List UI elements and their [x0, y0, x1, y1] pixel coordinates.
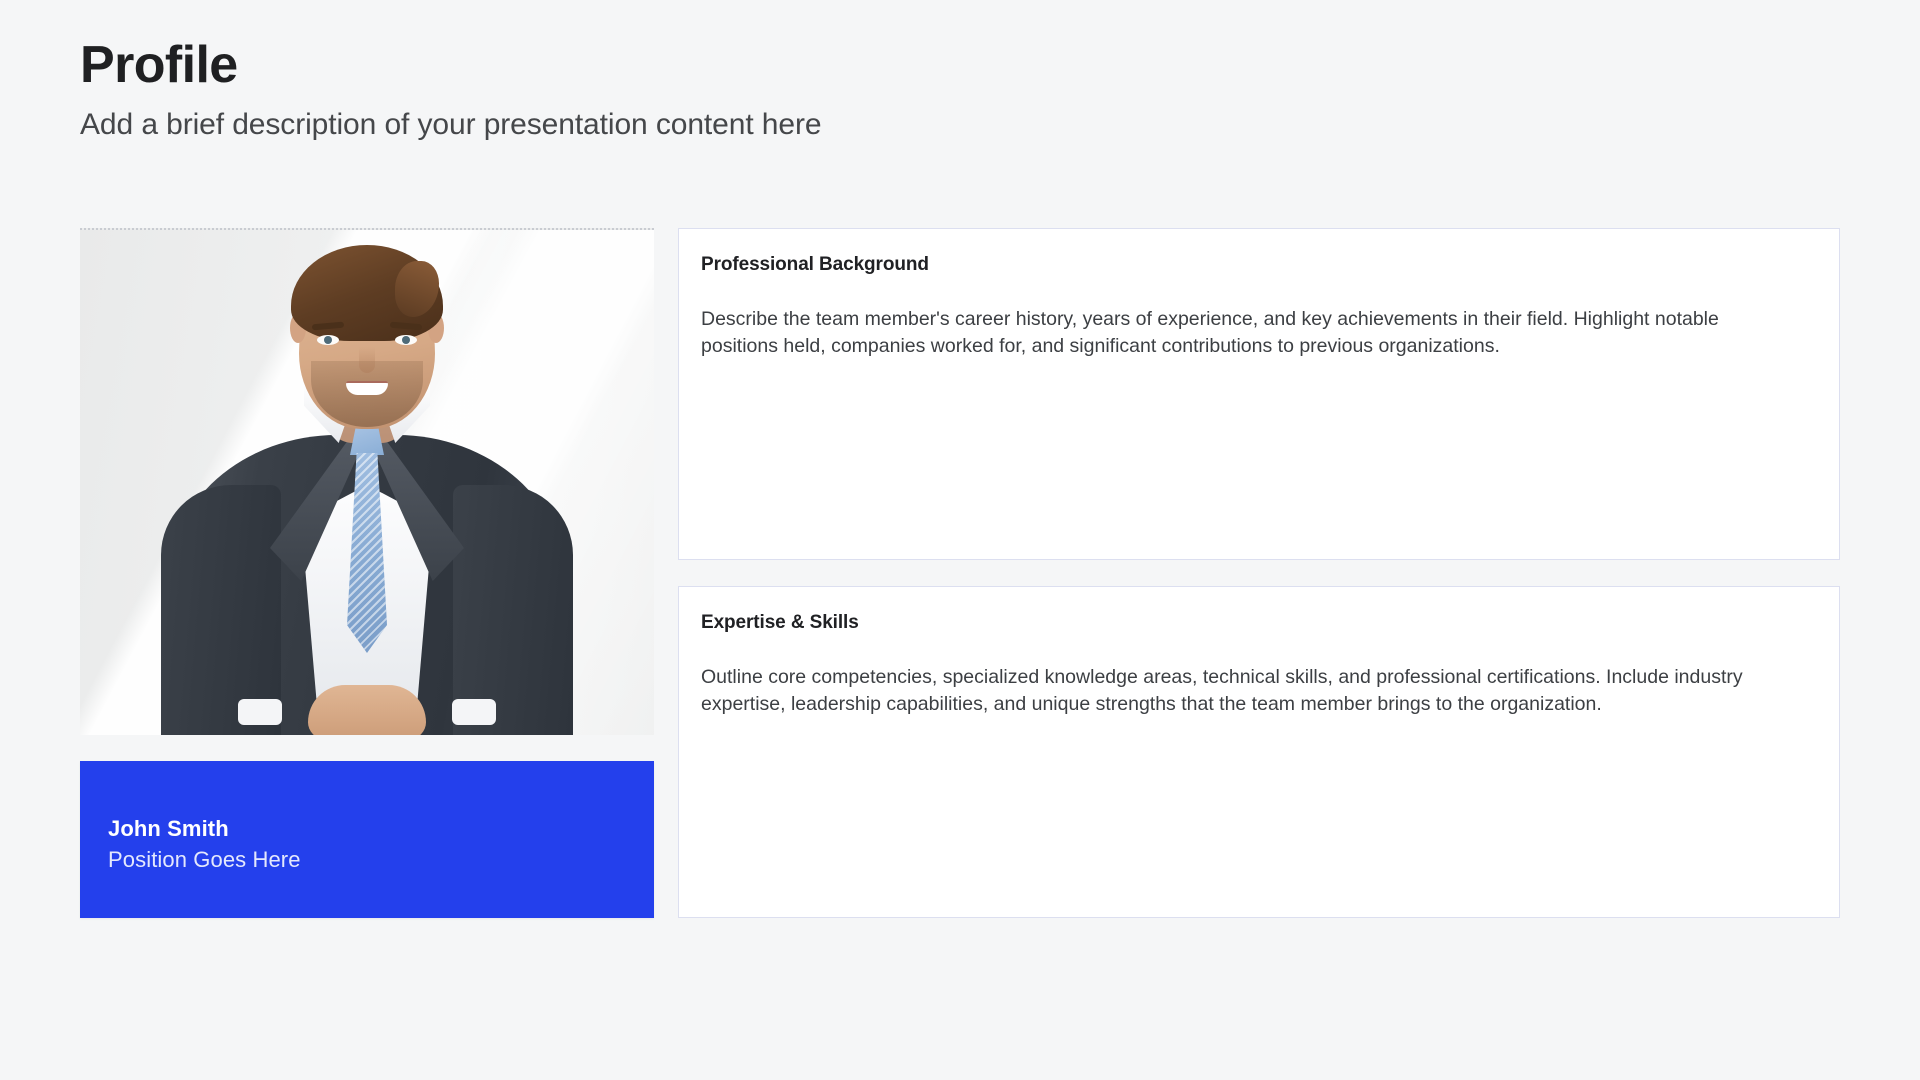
mouth-smile [346, 381, 388, 395]
profile-column: John Smith Position Goes Here [80, 228, 654, 918]
page-title: Profile [80, 36, 1840, 94]
page-subtitle: Add a brief description of your presenta… [80, 106, 1840, 144]
card-expertise-skills[interactable]: Expertise & Skills Outline core competen… [678, 586, 1840, 918]
profile-photo-frame[interactable] [80, 228, 654, 735]
nose [359, 347, 375, 373]
card-title: Expertise & Skills [701, 611, 1815, 636]
slide-canvas: Profile Add a brief description of your … [0, 0, 1920, 1080]
person-name: John Smith [108, 815, 626, 843]
card-body: Outline core competencies, specialized k… [701, 664, 1759, 719]
eye-left [317, 335, 339, 345]
card-title: Professional Background [701, 253, 1815, 278]
shirt-cuff-right [452, 699, 496, 725]
card-body: Describe the team member's career histor… [701, 306, 1759, 361]
slide-header: Profile Add a brief description of your … [80, 36, 1840, 144]
eye-right [395, 335, 417, 345]
card-professional-background[interactable]: Professional Background Describe the tea… [678, 228, 1840, 560]
clasped-hands [308, 685, 426, 735]
name-card[interactable]: John Smith Position Goes Here [80, 761, 654, 918]
shirt-cuff-left [238, 699, 282, 725]
details-column: Professional Background Describe the tea… [678, 228, 1840, 918]
profile-photo [80, 230, 654, 735]
photo-figure [152, 235, 582, 735]
slide-content: John Smith Position Goes Here Profession… [80, 228, 1840, 918]
person-position: Position Goes Here [108, 846, 626, 874]
